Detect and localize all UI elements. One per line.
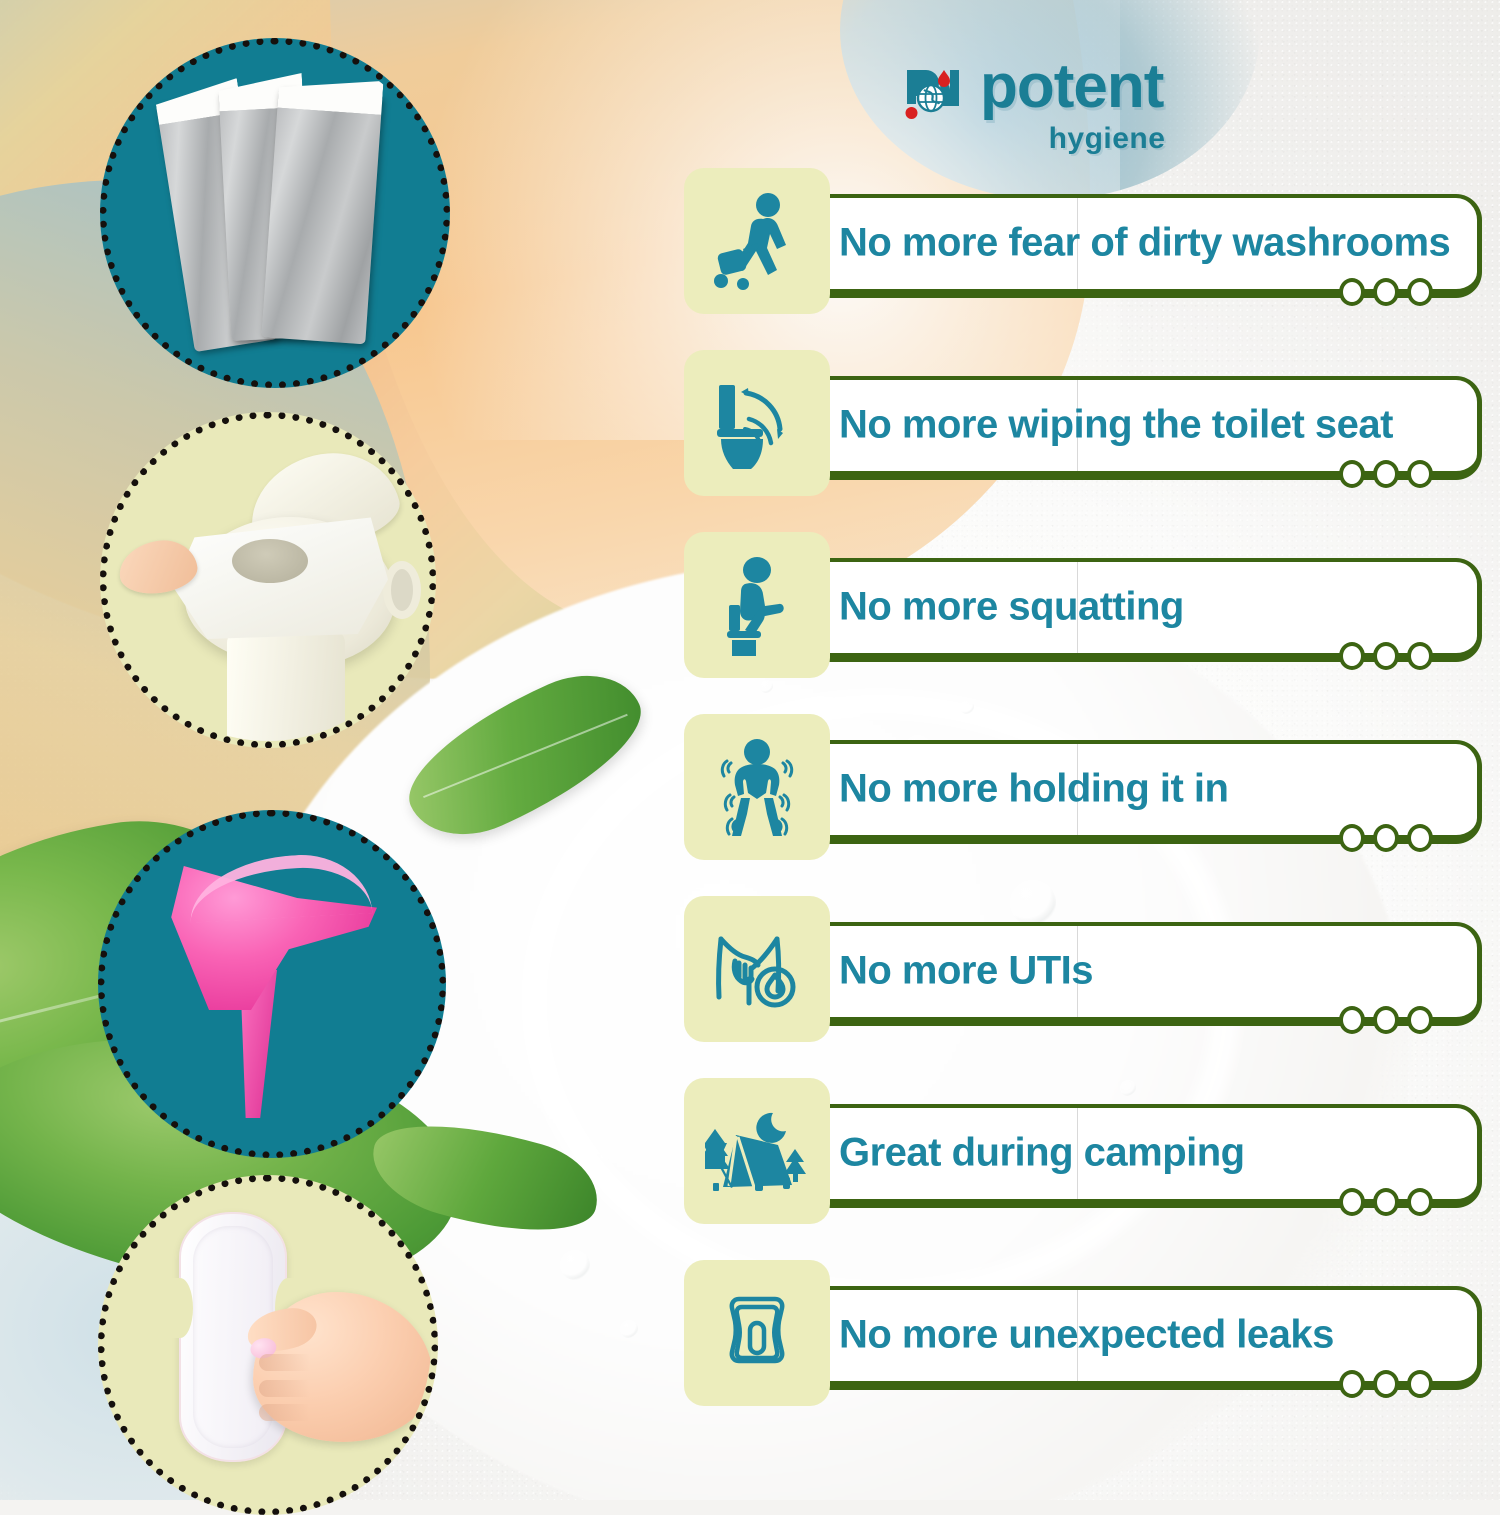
benefit-row[interactable]: No more wiping the toilet seat bbox=[676, 350, 1500, 506]
benefit-label: No more unexpected leaks bbox=[839, 1312, 1334, 1357]
ph-globe-droplet-monogram-icon bbox=[904, 68, 966, 124]
hand-and-water-droplet-icon bbox=[684, 896, 830, 1042]
product-circle-disposable-toilet-seat-cover bbox=[100, 412, 436, 748]
benefit-row[interactable]: No more squatting bbox=[676, 532, 1500, 688]
benefit-pill[interactable]: No more holding it in bbox=[811, 740, 1482, 844]
benefit-pill[interactable]: No more UTIs bbox=[811, 922, 1482, 1026]
benefit-pill[interactable]: No more fear of dirty washrooms bbox=[811, 194, 1482, 298]
pill-dots bbox=[1339, 278, 1433, 306]
brand-tagline: hygiene bbox=[970, 122, 1244, 156]
benefit-label: No more squatting bbox=[839, 584, 1184, 629]
benefit-rows: No more fear of dirty washrooms bbox=[676, 168, 1500, 1442]
benefits-panel: potent hygiene No more fear of dirty was… bbox=[676, 0, 1500, 1500]
pill-dots bbox=[1339, 1006, 1433, 1034]
product-circle-female-urination-device bbox=[98, 810, 446, 1158]
product-circle-foil-packet-sachets bbox=[100, 38, 450, 388]
brand-name: potent bbox=[980, 58, 1163, 115]
benefit-pill[interactable]: No more wiping the toilet seat bbox=[811, 376, 1482, 480]
benefit-pill[interactable]: Great during camping bbox=[811, 1104, 1482, 1208]
benefit-row[interactable]: No more holding it in bbox=[676, 714, 1500, 870]
pill-dots bbox=[1339, 460, 1433, 488]
female-urination-device-image bbox=[167, 850, 377, 1118]
brand-logo: potent hygiene bbox=[904, 58, 1244, 168]
benefit-label: No more UTIs bbox=[839, 948, 1093, 993]
pill-dots bbox=[1339, 824, 1433, 852]
toilet-seat-cover-image bbox=[107, 419, 429, 741]
pill-dots bbox=[1339, 1370, 1433, 1398]
tent-trees-moon-icon bbox=[684, 1078, 830, 1224]
benefit-row[interactable]: No more UTIs bbox=[676, 896, 1500, 1052]
toilet-seat-lifting-icon bbox=[684, 350, 830, 496]
benefit-pill[interactable]: No more squatting bbox=[811, 558, 1482, 662]
pill-dots bbox=[1339, 642, 1433, 670]
benefit-label: No more wiping the toilet seat bbox=[839, 402, 1393, 447]
traveler-with-luggage-icon bbox=[684, 168, 830, 314]
pill-dots bbox=[1339, 1188, 1433, 1216]
benefit-label: Great during camping bbox=[839, 1130, 1245, 1175]
benefit-label: No more fear of dirty washrooms bbox=[839, 220, 1450, 265]
benefit-row[interactable]: No more unexpected leaks bbox=[676, 1260, 1500, 1416]
foil-packet-sachets-image bbox=[107, 45, 443, 381]
sanitary-pad-outline-icon bbox=[684, 1260, 830, 1406]
benefit-label: No more holding it in bbox=[839, 766, 1228, 811]
benefit-row[interactable]: Great during camping bbox=[676, 1078, 1500, 1234]
benefit-row[interactable]: No more fear of dirty washrooms bbox=[676, 168, 1500, 324]
person-squatting-over-toilet-icon bbox=[684, 532, 830, 678]
sanitary-pad-in-hand-image bbox=[105, 1182, 431, 1508]
person-holding-urge-icon bbox=[684, 714, 830, 860]
product-circle-sanitary-pad-in-hand bbox=[98, 1175, 438, 1515]
benefit-pill[interactable]: No more unexpected leaks bbox=[811, 1286, 1482, 1390]
